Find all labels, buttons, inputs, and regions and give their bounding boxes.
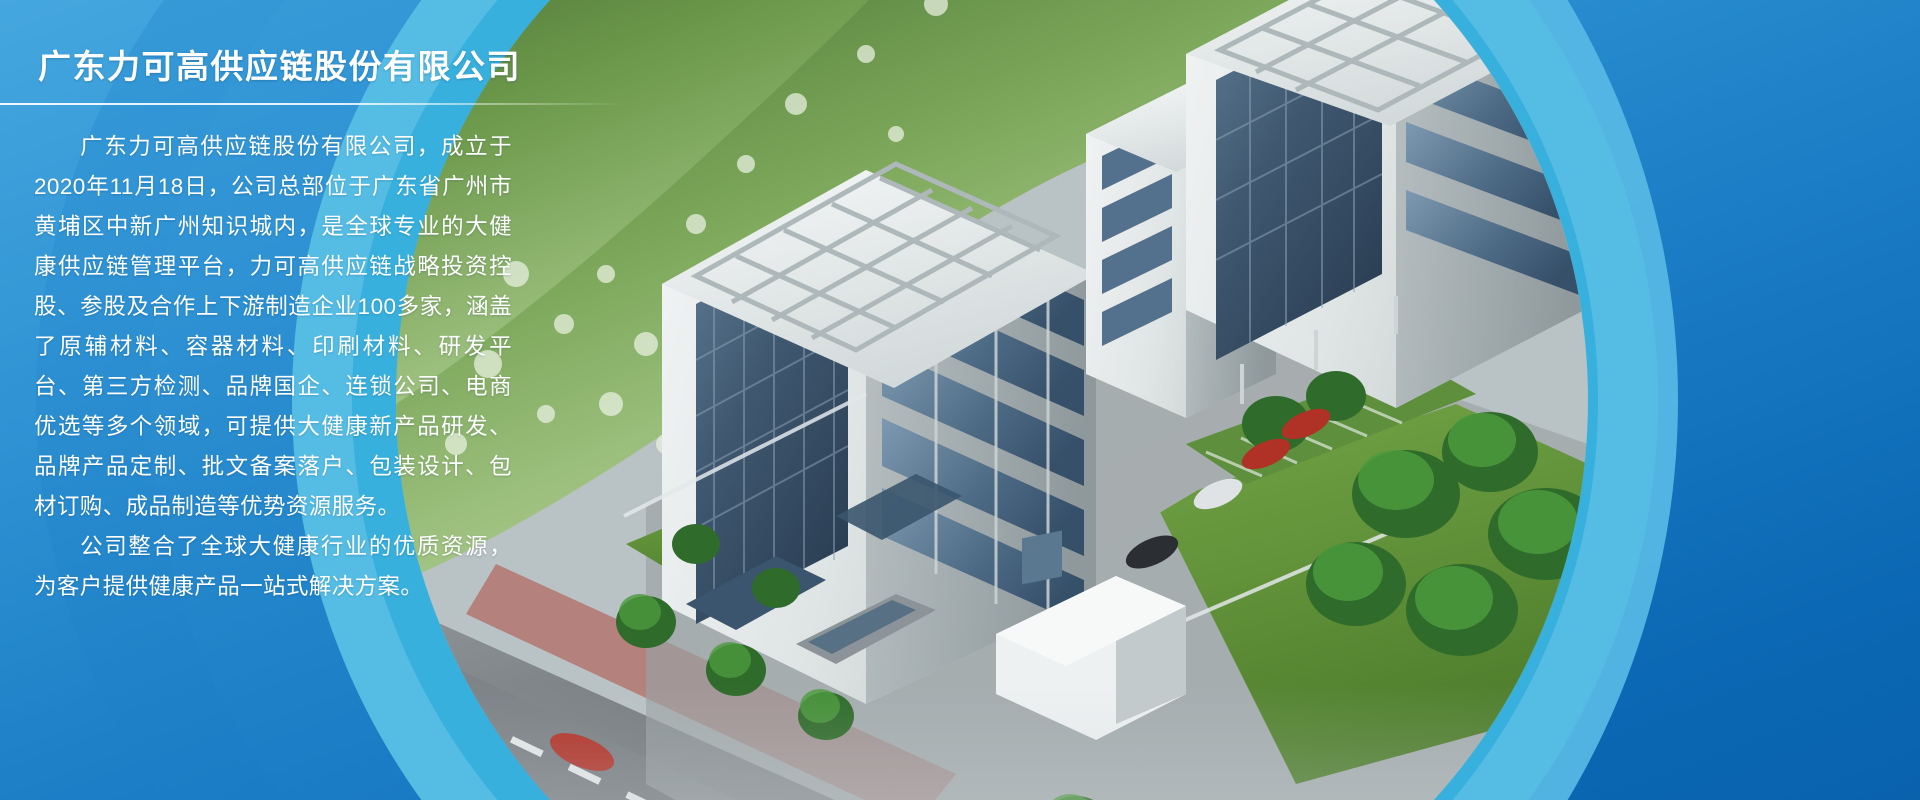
- company-intro-paragraph-1: 广东力可高供应链股份有限公司，成立于2020年11月18日，公司总部位于广东省广…: [34, 127, 512, 527]
- company-profile-banner: 广东力可高供应链股份有限公司 广东力可高供应链股份有限公司，成立于2020年11…: [0, 0, 1920, 800]
- paragraph-2-text: 公司整合了全球大健康行业的优质资源，为客户提供健康产品一站式解决方案。: [34, 534, 512, 599]
- page-title: 广东力可高供应链股份有限公司: [34, 46, 580, 89]
- company-intro-paragraph-2: 公司整合了全球大健康行业的优质资源，为客户提供健康产品一站式解决方案。: [34, 527, 512, 607]
- title-divider: [0, 103, 624, 105]
- banner-text-column: 广东力可高供应链股份有限公司 广东力可高供应链股份有限公司，成立于2020年11…: [0, 0, 620, 800]
- paragraph-1-text: 广东力可高供应链股份有限公司，成立于2020年11月18日，公司总部位于广东省广…: [34, 134, 512, 519]
